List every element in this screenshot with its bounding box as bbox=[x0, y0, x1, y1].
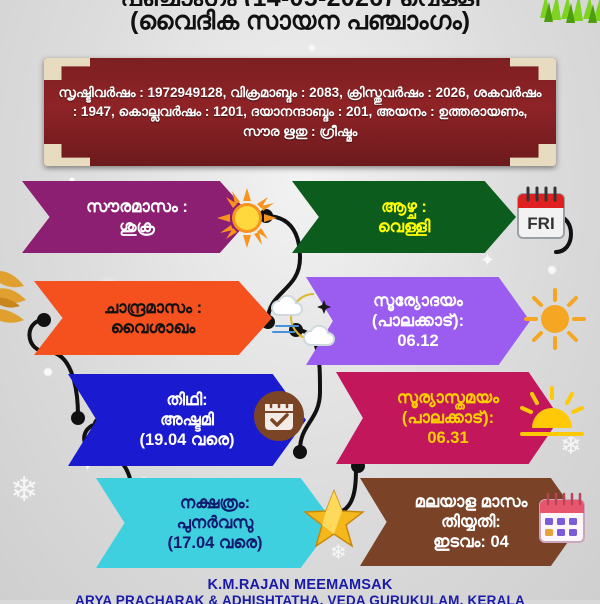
banner-sunset-label: സൂര്യാസ്തമയം (പാലക്കാട്): 06.31 bbox=[387, 388, 509, 448]
banner-sunrise[interactable]: സൂര്യോദയം (പാലക്കാട്): 06.12 bbox=[306, 277, 530, 365]
page-header: പഞ്ചാംഗം (14-05-2026) വെള്ളി (വൈദിക സായന… bbox=[0, 0, 600, 36]
banner-weekday-label: ആഴ്ച : വെള്ളി bbox=[368, 197, 441, 237]
sun-rays-icon bbox=[524, 288, 586, 350]
snowflake-decoration: ❄ bbox=[330, 540, 347, 565]
calendar-info-text: സൃഷ്ടിവർഷം : 1972949128, വിക്രമാബ്ദം : 2… bbox=[52, 83, 548, 140]
banner-thithi[interactable]: തിഥി: അഷ്ടമി (19.04 വരെ) bbox=[68, 374, 306, 466]
banner-solar-month-label: സൗരമാസം : ശുക്ര bbox=[76, 197, 198, 237]
banner-nakshatram[interactable]: നക്ഷത്രം: പുനർവസു (17.04 വരെ) bbox=[96, 478, 334, 568]
banner-lunar-month[interactable]: ചാന്ദ്രമാസം : വൈശാഖം bbox=[34, 281, 272, 355]
snowflake-decoration: ✦ bbox=[480, 250, 495, 271]
banner-malayalam-month-label: മലയാള മാസം തിയ്യതി: ഇടവം: 04 bbox=[405, 492, 538, 552]
banner-weekday[interactable]: ആഴ്ച : വെള്ളി bbox=[292, 181, 516, 253]
banner-malayalam-month[interactable]: മലയാള മാസം തിയ്യതി: ഇടവം: 04 bbox=[360, 478, 582, 566]
header-title-line2: (വൈദിക സായന പഞ്ചാംഗം) bbox=[0, 7, 600, 36]
calendar-info-box: സൃഷ്ടിവർഷം : 1972949128, വിക്രമാബ്ദം : 2… bbox=[44, 58, 556, 166]
header-title-line1: പഞ്ചാംഗം (14-05-2026) വെള്ളി bbox=[0, 0, 600, 6]
footer-organization: ARYA PRACHARAK & ADHISHTATHA, VEDA GURUK… bbox=[0, 593, 600, 604]
footer-author-name: K.M.RAJAN MEEMAMSAK bbox=[0, 577, 600, 593]
banner-nakshatram-label: നക്ഷത്രം: പുനർവസു (17.04 വരെ) bbox=[158, 493, 273, 553]
banner-sunrise-label: സൂര്യോദയം (പാലക്കാട്): 06.12 bbox=[362, 291, 474, 351]
banner-solar-month[interactable]: സൗരമാസം : ശുക്ര bbox=[22, 181, 252, 253]
banner-thithi-label: തിഥി: അഷ്ടമി (19.04 വരെ) bbox=[130, 390, 245, 450]
calendar-fri-text: FRI bbox=[527, 214, 554, 233]
snowflake-decoration: ❄ bbox=[560, 430, 582, 461]
banner-sunset[interactable]: സൂര്യാസ്തമയം (പാലക്കാട്): 06.31 bbox=[336, 372, 560, 464]
banner-lunar-month-label: ചാന്ദ്രമാസം : വൈശാഖം bbox=[94, 298, 212, 338]
snowflake-decoration: ❄ bbox=[10, 470, 39, 510]
calendar-fri-icon: FRI bbox=[515, 186, 567, 242]
